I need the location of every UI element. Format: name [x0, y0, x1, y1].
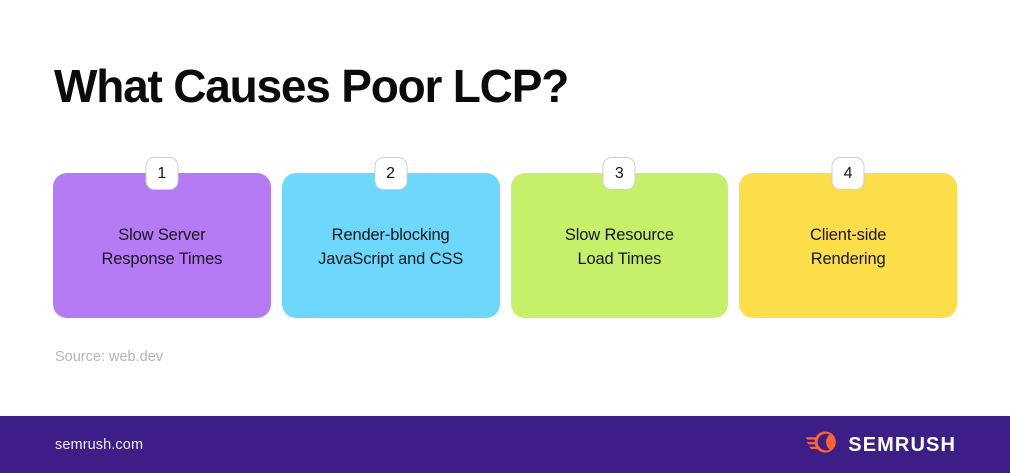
card-slow-resource-load-times: 3 Slow Resource Load Times — [511, 173, 729, 318]
card-badge-4: 4 — [832, 157, 865, 190]
page-title: What Causes Poor LCP? — [54, 58, 568, 114]
card-label-2: Render-blocking JavaScript and CSS — [308, 223, 473, 271]
card-render-blocking-javascript-and-css: 2 Render-blocking JavaScript and CSS — [282, 173, 500, 318]
card-label-3: Slow Resource Load Times — [555, 223, 684, 271]
cards-row: 1 Slow Server Response Times 2 Render-bl… — [53, 173, 957, 318]
card-badge-1: 1 — [145, 157, 178, 190]
source-note: Source: web.dev — [55, 347, 163, 367]
semrush-wordmark: SEMRUSH — [848, 435, 956, 455]
card-slow-server-response-times: 1 Slow Server Response Times — [53, 173, 271, 318]
footer-site-url: semrush.com — [55, 435, 143, 455]
card-label-4: Client-side Rendering — [800, 223, 896, 271]
infographic-canvas: What Causes Poor LCP? 1 Slow Server Resp… — [0, 0, 1010, 473]
footer-bar: semrush.com SEMRUSH — [0, 416, 1010, 473]
semrush-logo: SEMRUSH — [805, 431, 956, 458]
card-client-side-rendering: 4 Client-side Rendering — [739, 173, 957, 318]
card-label-1: Slow Server Response Times — [91, 223, 232, 271]
semrush-comet-icon — [805, 431, 839, 458]
card-badge-2: 2 — [374, 157, 407, 190]
card-badge-3: 3 — [603, 157, 636, 190]
